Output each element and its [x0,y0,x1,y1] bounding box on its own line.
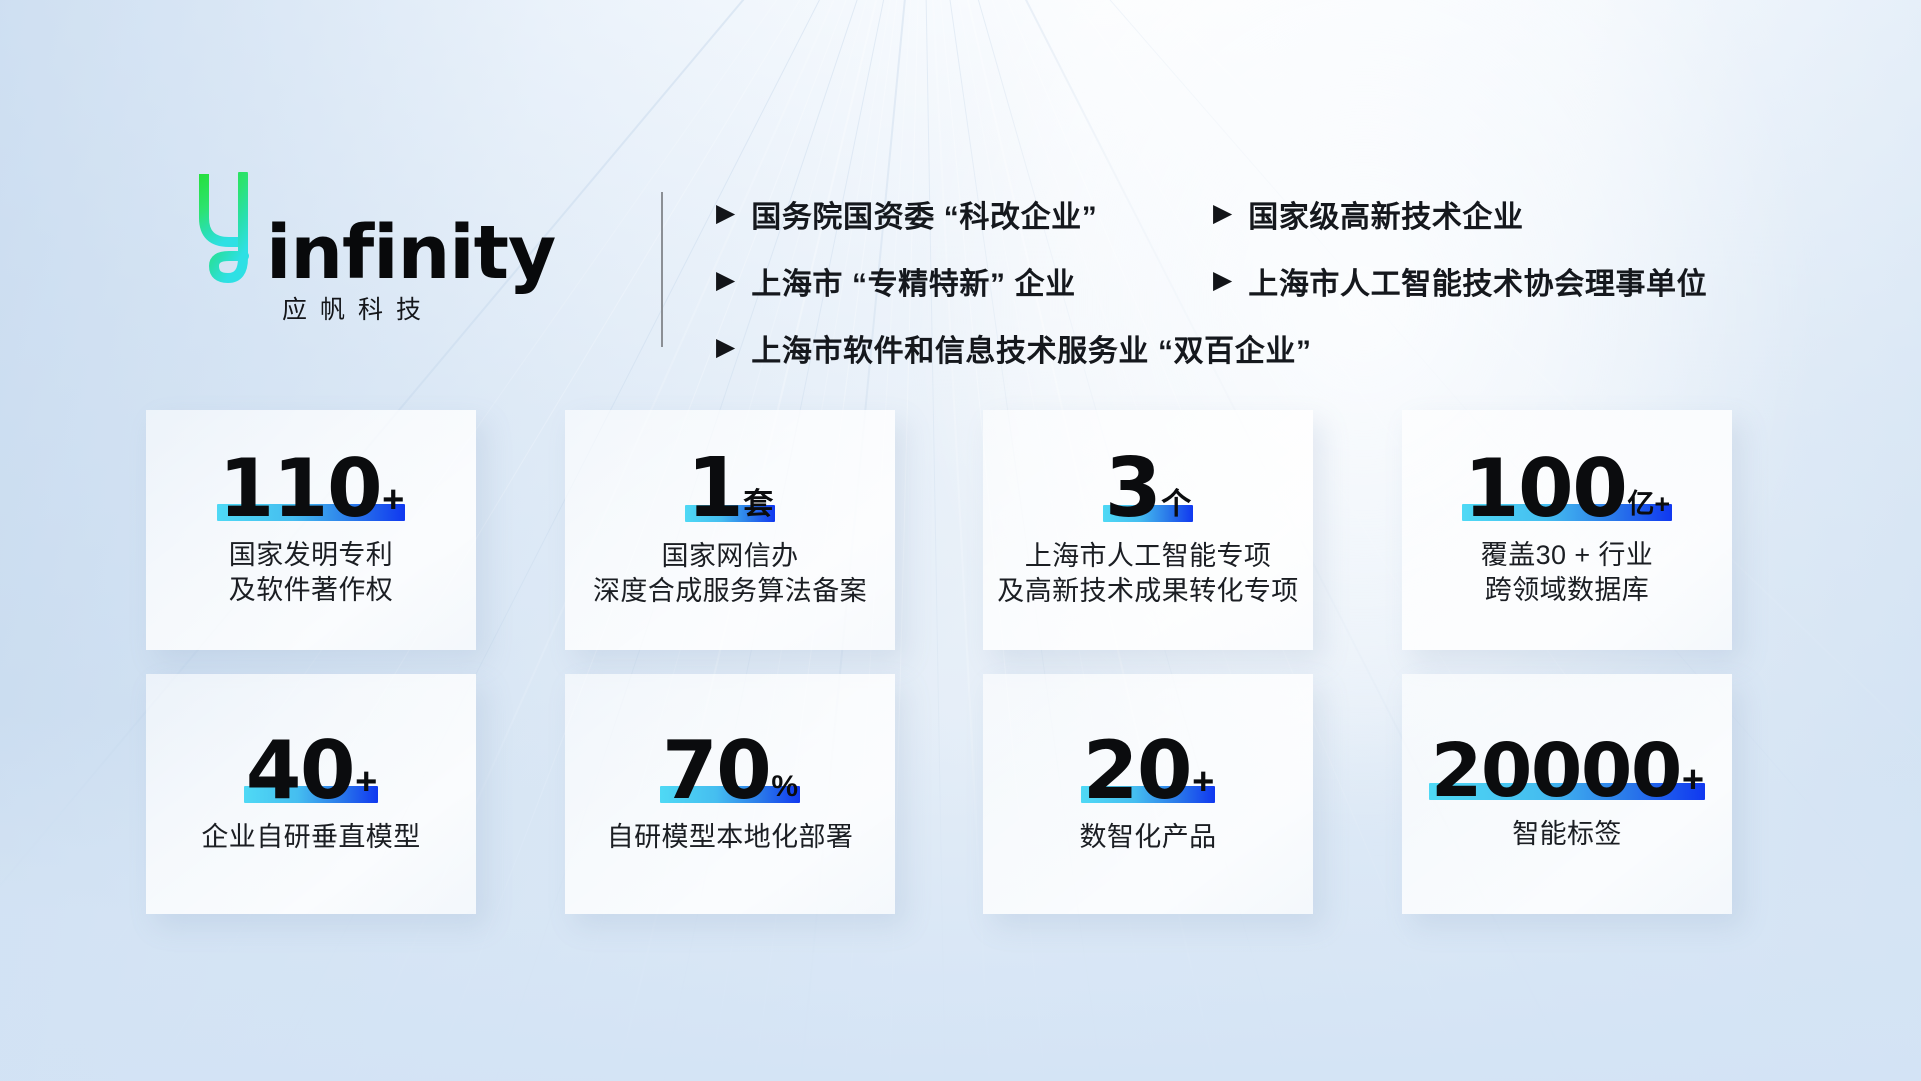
stat-number: 3 [1105,450,1161,529]
stat-value-block: 100亿+ [1462,451,1672,528]
stat-caption: 国家发明专利及软件著作权 [229,538,393,609]
stat-unit: + [355,763,376,801]
triangle-right-icon: ▶ [716,201,735,226]
stat-unit: 套 [743,490,773,520]
stat-number: 100 [1464,451,1627,528]
stat-number: 20 [1083,733,1191,810]
stat-caption: 数智化产品 [1080,820,1217,856]
stat-unit: 亿+ [1627,491,1670,518]
credential-item: ▶ 上海市人工智能技术协会理事单位 [1213,253,1856,309]
credential-item: ▶ 上海市软件和信息技术服务业 “双百企业” [716,320,1213,376]
stat-caption: 上海市人工智能专项及高新技术成果转化专项 [997,539,1298,610]
stat-card: 20+数智化产品 [983,674,1313,914]
stat-unit: + [1192,763,1213,801]
stat-number: 110 [219,451,382,528]
triangle-right-icon: ▶ [716,268,735,293]
credential-label: 国家级高新技术企业 [1248,192,1523,236]
credential-item: ▶ 国家级高新技术企业 [1213,186,1856,242]
stat-number: 70 [662,733,770,810]
credentials-list: ▶ 国务院国资委 “科改企业” ▶ 国家级高新技术企业 ▶ 上海市 “专精特新”… [716,186,1856,387]
stat-number: 1 [687,450,743,529]
stat-value-block: 20+ [1081,733,1216,810]
header: infinity 应帆科技 ▶ 国务院国资委 “科改企业” ▶ 国家级高新技术企… [0,0,1921,400]
stat-unit: + [382,481,403,519]
triangle-right-icon: ▶ [1213,201,1232,226]
stat-card: 1套国家网信办深度合成服务算法备案 [565,410,895,650]
credentials-row: ▶ 上海市软件和信息技术服务业 “双百企业” [716,320,1856,387]
brand-wordmark: infinity [266,218,555,288]
stat-value-block: 1套 [685,450,776,529]
stat-unit: 个 [1161,490,1191,520]
stat-caption: 智能标签 [1512,817,1622,853]
triangle-right-icon: ▶ [716,335,735,360]
credentials-row: ▶ 上海市 “专精特新” 企业 ▶ 上海市人工智能技术协会理事单位 [716,253,1856,320]
credentials-row: ▶ 国务院国资委 “科改企业” ▶ 国家级高新技术企业 [716,186,1856,253]
stat-card: 40+企业自研垂直模型 [146,674,476,914]
stat-value-block: 70% [660,733,800,810]
stat-value-block: 40+ [244,733,379,810]
credential-label: 上海市软件和信息技术服务业 “双百企业” [751,326,1311,370]
credential-label: 上海市人工智能技术协会理事单位 [1248,259,1707,303]
stat-card: 3个上海市人工智能专项及高新技术成果转化专项 [983,410,1313,650]
stat-caption: 自研模型本地化部署 [607,820,854,856]
stat-number: 40 [246,733,354,810]
stat-card: 70%自研模型本地化部署 [565,674,895,914]
stat-card: 110+国家发明专利及软件著作权 [146,410,476,650]
infinity-mark-icon [196,172,270,290]
stat-card: 20000+智能标签 [1402,674,1732,914]
credential-item: ▶ 国务院国资委 “科改企业” [716,186,1213,242]
stat-value-block: 110+ [217,451,406,528]
stat-unit: + [1682,761,1703,799]
header-divider [661,192,663,347]
stat-value-block: 3个 [1103,450,1194,529]
stat-value-block: 20000+ [1429,736,1705,807]
stat-caption: 国家网信办深度合成服务算法备案 [593,539,867,610]
credential-label: 国务院国资委 “科改企业” [751,192,1097,236]
stat-caption: 企业自研垂直模型 [201,820,420,856]
stat-caption: 覆盖30 + 行业跨领域数据库 [1481,538,1653,609]
stat-card: 100亿+覆盖30 + 行业跨领域数据库 [1402,410,1732,650]
stat-number: 20000 [1431,736,1681,807]
credential-item: ▶ 上海市 “专精特新” 企业 [716,253,1213,309]
credential-label: 上海市 “专精特新” 企业 [751,259,1075,303]
stat-unit: % [771,772,798,802]
triangle-right-icon: ▶ [1213,268,1232,293]
brand-logo: infinity 应帆科技 [196,200,616,330]
